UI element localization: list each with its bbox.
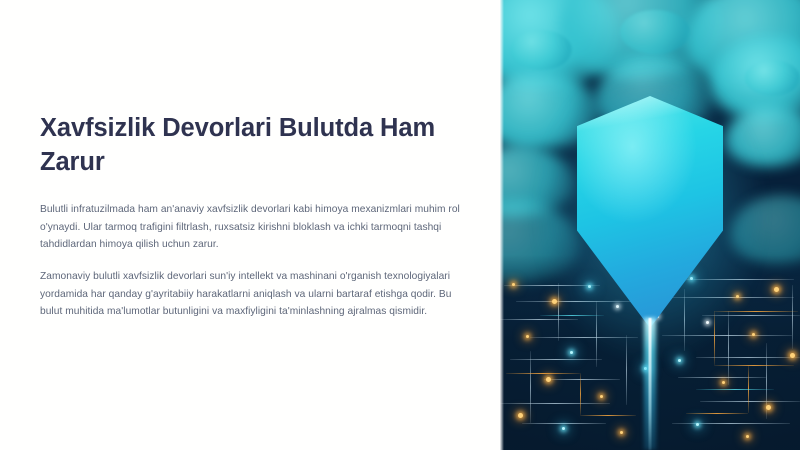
text-panel: Xavfsizlik Devorlari Bulutda Ham Zarur B… (0, 0, 500, 450)
circuit-node (562, 427, 565, 430)
circuit-node (600, 395, 603, 398)
body-paragraph-2: Zamonaviy bulutli xavfsizlik devorlari s… (40, 254, 460, 321)
body-paragraph-1: Bulutli infratuzilmada ham an'anaviy xav… (40, 179, 460, 254)
circuit-trace (500, 403, 610, 404)
circuit-node (546, 377, 551, 382)
circuit-trace (500, 319, 578, 320)
circuit-trace (530, 351, 531, 423)
circuit-node (526, 335, 529, 338)
circuit-trace-cyan (696, 389, 774, 390)
circuit-node (570, 351, 573, 354)
circuit-trace (510, 359, 602, 360)
circuit-node (512, 283, 515, 286)
security-shield (577, 96, 723, 328)
circuit-trace (696, 357, 800, 358)
circuit-node (696, 423, 699, 426)
illustration-panel (500, 0, 800, 450)
circuit-trace-amber (580, 415, 636, 416)
circuit-trace (672, 423, 790, 424)
cloud-shape (745, 60, 800, 96)
circuit-node (678, 359, 681, 362)
circuit-trace (700, 401, 800, 402)
data-beam-core (649, 318, 652, 450)
circuit-node (746, 435, 749, 438)
circuit-node (766, 405, 771, 410)
circuit-node (620, 431, 623, 434)
circuit-trace-amber (506, 373, 580, 374)
circuit-trace (678, 377, 766, 378)
circuit-trace-amber (714, 365, 794, 366)
circuit-trace (728, 311, 729, 385)
cloud-shape (620, 10, 690, 54)
circuit-trace-amber (580, 373, 581, 415)
slide-root: Xavfsizlik Devorlari Bulutda Ham Zarur B… (0, 0, 800, 450)
page-title: Xavfsizlik Devorlari Bulutda Ham Zarur (40, 0, 440, 179)
circuit-node (518, 413, 523, 418)
circuit-trace (522, 423, 606, 424)
circuit-node (774, 287, 779, 292)
cloud-shape (510, 30, 572, 70)
panel-edge-seam (500, 0, 504, 450)
circuit-node (752, 333, 755, 336)
circuit-trace (792, 285, 793, 349)
circuit-trace-amber (686, 413, 748, 414)
circuit-node (722, 381, 725, 384)
circuit-trace (544, 379, 620, 380)
circuit-node (790, 353, 795, 358)
